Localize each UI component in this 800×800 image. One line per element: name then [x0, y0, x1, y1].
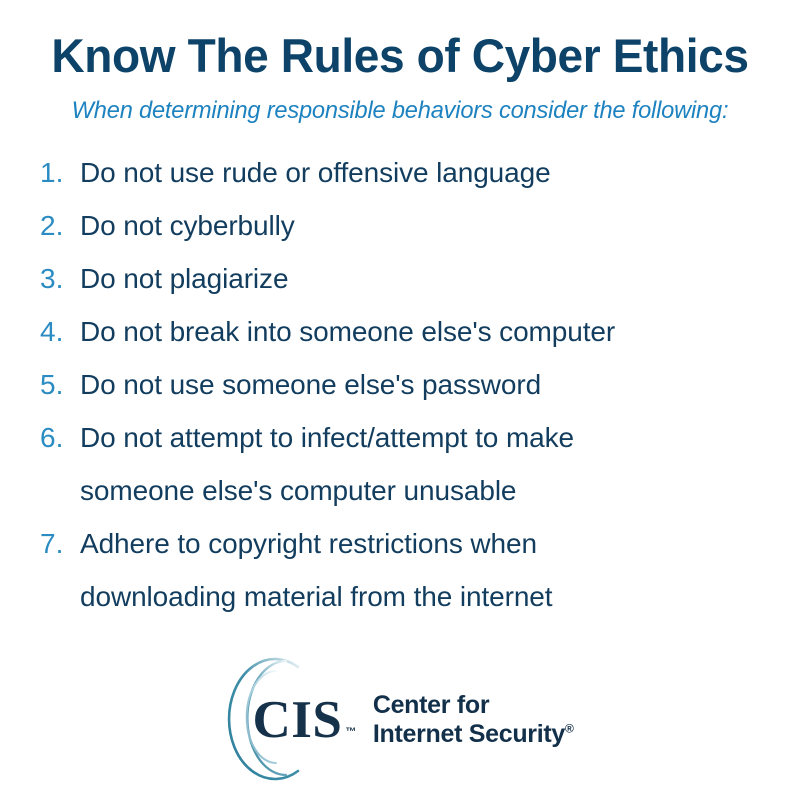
list-item: 4. Do not break into someone else's comp… [0, 305, 800, 358]
list-item: 3. Do not plagiarize [0, 252, 800, 305]
rule-line: Do not cyberbully [80, 210, 295, 241]
rule-number: 1. [40, 146, 80, 199]
page-subtitle: When determining responsible behaviors c… [6, 96, 794, 126]
rule-line: downloading material from the internet [80, 581, 552, 612]
logo-tagline-line2: Internet Security [373, 720, 565, 748]
logo-tagline: Center for Internet Security® [373, 691, 574, 749]
rule-number: 6. [40, 411, 80, 464]
heading-block: Know The Rules of Cyber Ethics When dete… [0, 0, 800, 126]
rule-line: someone else's computer unusable [80, 475, 516, 506]
rule-line: Adhere to copyright restrictions when [80, 528, 537, 559]
rule-number: 7. [40, 517, 80, 570]
rule-number: 2. [40, 199, 80, 252]
rule-text: Do not cyberbully [80, 199, 800, 252]
rule-text: Do not break into someone else's compute… [80, 305, 800, 358]
list-item: 5. Do not use someone else's password [0, 358, 800, 411]
rule-text: Do not plagiarize [80, 252, 800, 305]
cis-letters: CIS [252, 694, 342, 747]
rules-list: 1. Do not use rude or offensive language… [0, 146, 800, 623]
rule-line: Do not use someone else's password [80, 369, 541, 400]
rule-number: 4. [40, 305, 80, 358]
rule-number: 5. [40, 358, 80, 411]
rule-number: 3. [40, 252, 80, 305]
logo-tagline-line1: Center for [373, 691, 489, 719]
list-item: 1. Do not use rude or offensive language [0, 146, 800, 199]
rule-line: Do not break into someone else's compute… [80, 316, 615, 347]
cis-logo: CIS™ Center for Internet Security® [226, 655, 573, 785]
cis-wordmark: CIS™ [252, 694, 356, 747]
rule-line: Do not attempt to infect/attempt to make [80, 422, 574, 453]
rule-line: Do not use rude or offensive language [80, 157, 551, 188]
list-item: 2. Do not cyberbully [0, 199, 800, 252]
list-item: 7. Adhere to copyright restrictions when… [0, 517, 800, 623]
rule-text: Do not use someone else's password [80, 358, 800, 411]
trademark-symbol: ™ [345, 727, 357, 738]
rule-text: Do not attempt to infect/attempt to make… [80, 411, 800, 517]
list-item: 6. Do not attempt to infect/attempt to m… [0, 411, 800, 517]
logo-area: CIS™ Center for Internet Security® [0, 650, 800, 790]
cyber-ethics-poster: Know The Rules of Cyber Ethics When dete… [0, 0, 800, 800]
page-title: Know The Rules of Cyber Ethics [8, 28, 792, 84]
rule-line: Do not plagiarize [80, 263, 288, 294]
rule-text: Do not use rude or offensive language [80, 146, 800, 199]
rule-text: Adhere to copyright restrictions when do… [80, 517, 800, 623]
registered-symbol: ® [565, 722, 574, 736]
